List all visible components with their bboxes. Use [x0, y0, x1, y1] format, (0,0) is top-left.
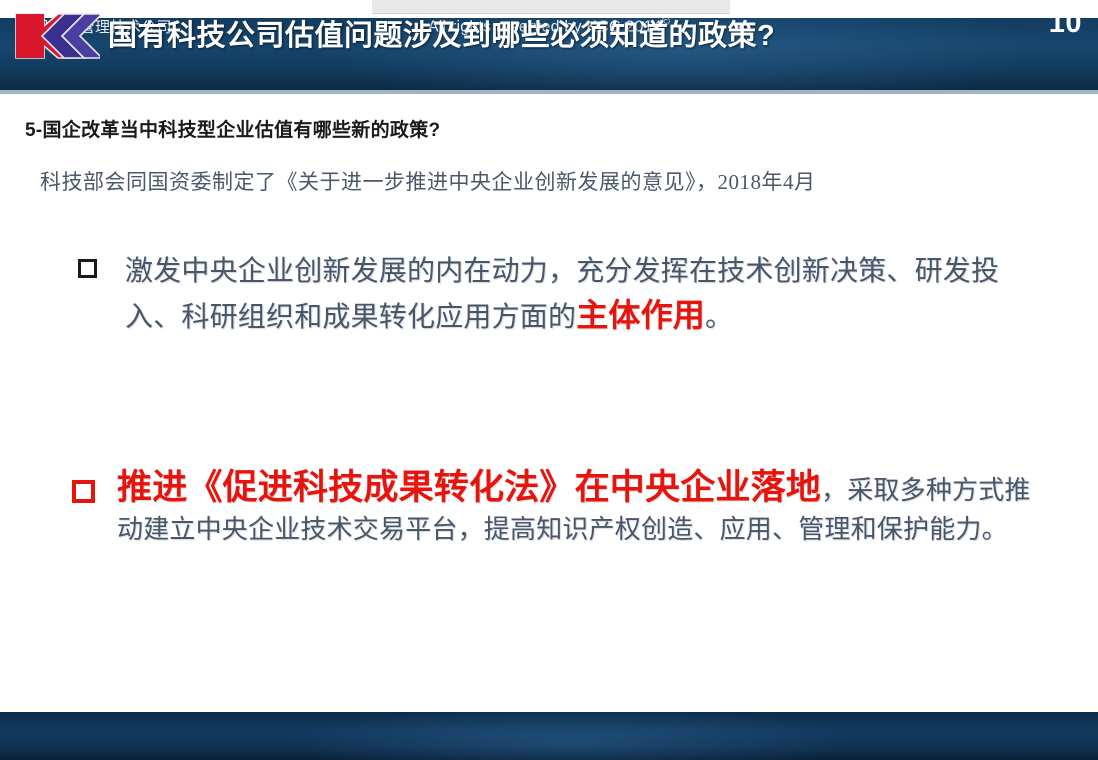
bullet-text: 推进《促进科技成果转化法》在中央企业落地，采取多种方式推动建立中央企业技术交易平… [117, 468, 1032, 549]
bullet-text-before: 激发中央企业创新发展的内在动力，充分发挥在技术创新决策、研发投入、科研组织和成果… [125, 255, 999, 332]
section-heading: 5-国企改革当中科技型企业估值有哪些新的政策? [25, 115, 440, 142]
slide-canvas: 国有科技公司估值问题涉及到哪些必须知道的政策? 5-国企改革当中科技型企业估值有… [0, 0, 1098, 760]
bullet-emphasis: 主体作用 [576, 297, 705, 333]
bullet-item: 推进《促进科技成果转化法》在中央企业落地，采取多种方式推动建立中央企业技术交易平… [72, 468, 1032, 549]
slide-body: 5-国企改革当中科技型企业估值有哪些新的政策? 科技部会同国资委制定了《关于进一… [0, 96, 1098, 712]
bullet-text: 激发中央企业创新发展的内在动力，充分发挥在技术创新决策、研发投入、科研组织和成果… [125, 248, 1028, 339]
page-number: 10 [1049, 7, 1082, 40]
source-reference-line: 科技部会同国资委制定了《关于进一步推进中央企业创新发展的意见》，2018年4月 [40, 166, 816, 196]
bullet-item: 激发中央企业创新发展的内在动力，充分发挥在技术创新决策、研发投入、科研组织和成果… [78, 248, 1028, 339]
page-title: 国有科技公司估值问题涉及到哪些必须知道的政策? [108, 16, 775, 56]
slide-footer [0, 712, 1098, 760]
square-outline-icon [78, 259, 97, 278]
bullet-text-after: 。 [705, 301, 733, 332]
bullet-lead-emphasis: 推进《促进科技成果转化法》在中央企业落地 [117, 468, 821, 507]
square-outline-red-icon [72, 480, 95, 503]
top-grey-tab [372, 0, 730, 14]
kcc-logo [14, 12, 100, 60]
